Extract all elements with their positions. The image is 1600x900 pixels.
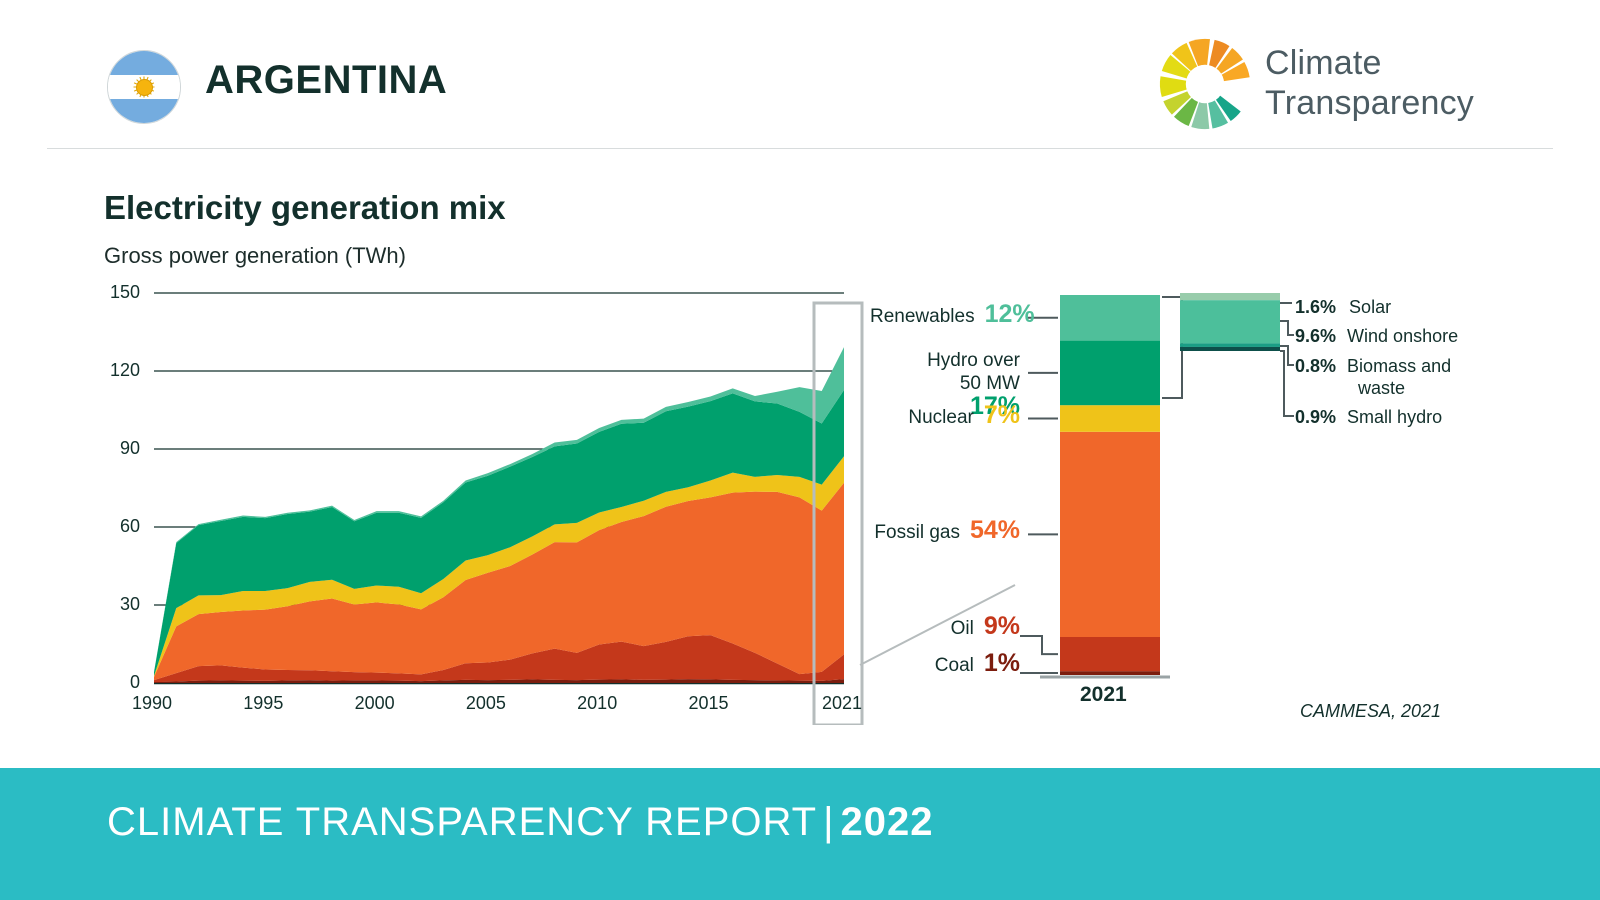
- climate-transparency-logo-icon: [1157, 36, 1253, 132]
- y-tick-0: 0: [104, 672, 140, 693]
- bar-label-pct: 12%: [975, 300, 1035, 328]
- x-tick-2010: 2010: [577, 693, 617, 714]
- footer-text: CLIMATE TRANSPARENCY REPORT|2022: [107, 800, 933, 845]
- bar-label-pct: 7%: [974, 401, 1020, 429]
- bar-label-pct: 1%: [974, 649, 1020, 677]
- page-subtitle: Gross power generation (TWh): [104, 243, 406, 269]
- renewables-breakdown: 1.6% Solar 9.6% Wind onshore 0.8% Biomas…: [1180, 285, 1580, 445]
- bar-label-name: Coal: [935, 655, 974, 676]
- bar-label-name: Renewables: [870, 306, 975, 327]
- infographic-page: ARGENTINA: [0, 0, 1600, 900]
- x-tick-2021: 2021: [822, 693, 862, 714]
- bar-label-renewables: Renewables12%: [870, 303, 1020, 328]
- header-divider: [47, 148, 1553, 149]
- y-tick-120: 120: [104, 360, 140, 381]
- footer-year: 2022: [841, 800, 934, 844]
- breakdown-label-wind: Wind onshore: [1341, 326, 1458, 346]
- logo-wordmark: Climate Transparency: [1265, 43, 1474, 123]
- breakdown-item-wind: 9.6% Wind onshore: [1295, 325, 1458, 347]
- y-tick-90: 90: [104, 438, 140, 459]
- page-title: Electricity generation mix: [104, 189, 506, 227]
- bar-segment-fossil-gas: [1060, 432, 1160, 637]
- bar-segment-coal: [1060, 671, 1160, 675]
- area-series: [154, 347, 844, 683]
- breakdown-segment-small-hydro: [1180, 347, 1280, 351]
- bar-label-coal: Coal1%: [870, 652, 1020, 677]
- bar-label-name: Nuclear: [908, 407, 973, 428]
- x-tick-2000: 2000: [355, 693, 395, 714]
- breakdown-pct-wind: 9.6%: [1295, 326, 1336, 346]
- breakdown-item-biomass: 0.8% Biomass and: [1295, 355, 1451, 377]
- y-tick-60: 60: [104, 516, 140, 537]
- logo-line-2: Transparency: [1265, 83, 1474, 123]
- breakdown-leader-1: [1280, 321, 1294, 335]
- page-header: ARGENTINA: [0, 0, 1600, 150]
- argentina-flag-icon: [107, 50, 181, 124]
- y-tick-30: 30: [104, 594, 140, 615]
- x-tick-2015: 2015: [688, 693, 728, 714]
- bar-segment-nuclear: [1060, 405, 1160, 432]
- bar-label-pct: 54%: [960, 516, 1020, 544]
- breakdown-pct-small-hydro: 0.9%: [1295, 407, 1336, 427]
- footer-report-label: CLIMATE TRANSPARENCY REPORT: [107, 800, 817, 844]
- bar-year-label: 2021: [1080, 683, 1127, 707]
- breakdown-segment-solar: [1180, 293, 1280, 300]
- breakdown-label-biomass-2: waste: [1358, 377, 1405, 399]
- bar-label-pct: 9%: [974, 612, 1020, 640]
- footer-divider: |: [817, 800, 840, 844]
- bar-segment-renewables: [1060, 295, 1160, 341]
- breakdown-segment-biomass-and-waste: [1180, 343, 1280, 347]
- breakdown-pct-biomass: 0.8%: [1295, 356, 1336, 376]
- breakdown-label-biomass: Biomass and: [1341, 356, 1451, 376]
- breakdown-segment-wind-onshore: [1180, 300, 1280, 343]
- stacked-bar-chart: Renewables12%Hydro over50 MW17%Nuclear7%…: [870, 285, 1210, 725]
- bar-label-name: Oil: [951, 618, 974, 639]
- breakdown-label-solar: Solar: [1341, 297, 1391, 317]
- logo-line-1: Climate: [1265, 43, 1474, 83]
- bar-label-nuclear: Nuclear7%: [870, 404, 1020, 429]
- bar-label-name: Fossil gas: [874, 522, 960, 543]
- leader-line-oil: [1020, 636, 1058, 654]
- y-tick-150: 150: [104, 282, 140, 303]
- x-tick-1990: 1990: [132, 693, 172, 714]
- x-tick-1995: 1995: [243, 693, 283, 714]
- area-chart: 0306090120150 19901995200020052010201520…: [104, 285, 864, 725]
- bar-segment-oil: [1060, 637, 1160, 671]
- bar-label-oil: Oil9%: [870, 615, 1020, 640]
- breakdown-pct-solar: 1.6%: [1295, 297, 1336, 317]
- country-title: ARGENTINA: [205, 58, 447, 103]
- bar-segment-hydro-over-50-mw: [1060, 341, 1160, 406]
- breakdown-leader-2: [1280, 346, 1294, 365]
- bar-label-fossil-gas: Fossil gas54%: [870, 519, 1020, 544]
- x-tick-2005: 2005: [466, 693, 506, 714]
- breakdown-label-small-hydro: Small hydro: [1341, 407, 1442, 427]
- breakdown-item-solar: 1.6% Solar: [1295, 296, 1391, 318]
- source-attribution: CAMMESA, 2021: [1300, 701, 1441, 722]
- breakdown-item-small-hydro: 0.9% Small hydro: [1295, 406, 1442, 428]
- area-chart-svg: [104, 285, 864, 725]
